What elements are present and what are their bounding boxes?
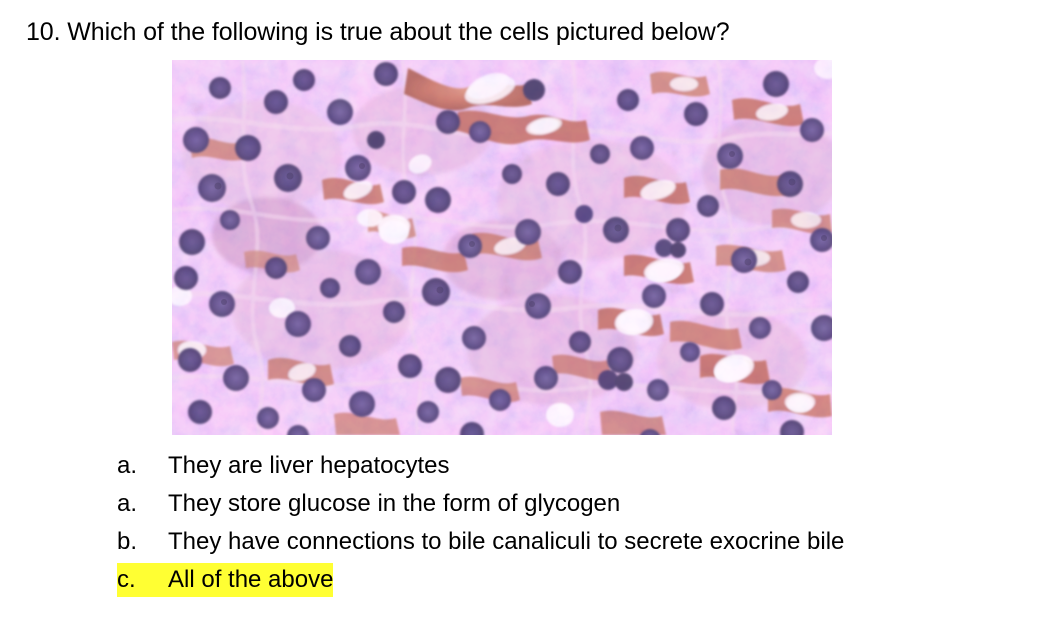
micrograph-canvas xyxy=(172,60,832,435)
option-text: They are liver hepatocytes xyxy=(168,449,449,483)
answer-option[interactable]: a. They are liver hepatocytes xyxy=(117,449,1037,487)
option-marker: a. xyxy=(117,487,168,521)
option-marker: a. xyxy=(117,449,168,483)
option-text: They store glucose in the form of glycog… xyxy=(168,487,620,521)
option-text: All of the above xyxy=(168,563,333,597)
answer-option[interactable]: b. They have connections to bile canalic… xyxy=(117,525,1037,563)
question-text: 10. Which of the following is true about… xyxy=(26,17,730,47)
option-text: They have connections to bile canaliculi… xyxy=(168,525,844,559)
photographic-grain-overlay xyxy=(172,60,832,435)
answer-options-list: a. They are liver hepatocytes a. They st… xyxy=(117,449,1037,601)
liver-histology-micrograph xyxy=(172,60,832,435)
answer-option-selected[interactable]: c. All of the above xyxy=(117,563,1037,601)
option-marker: b. xyxy=(117,525,168,559)
answer-option[interactable]: a. They store glucose in the form of gly… xyxy=(117,487,1037,525)
option-marker: c. xyxy=(117,563,168,597)
